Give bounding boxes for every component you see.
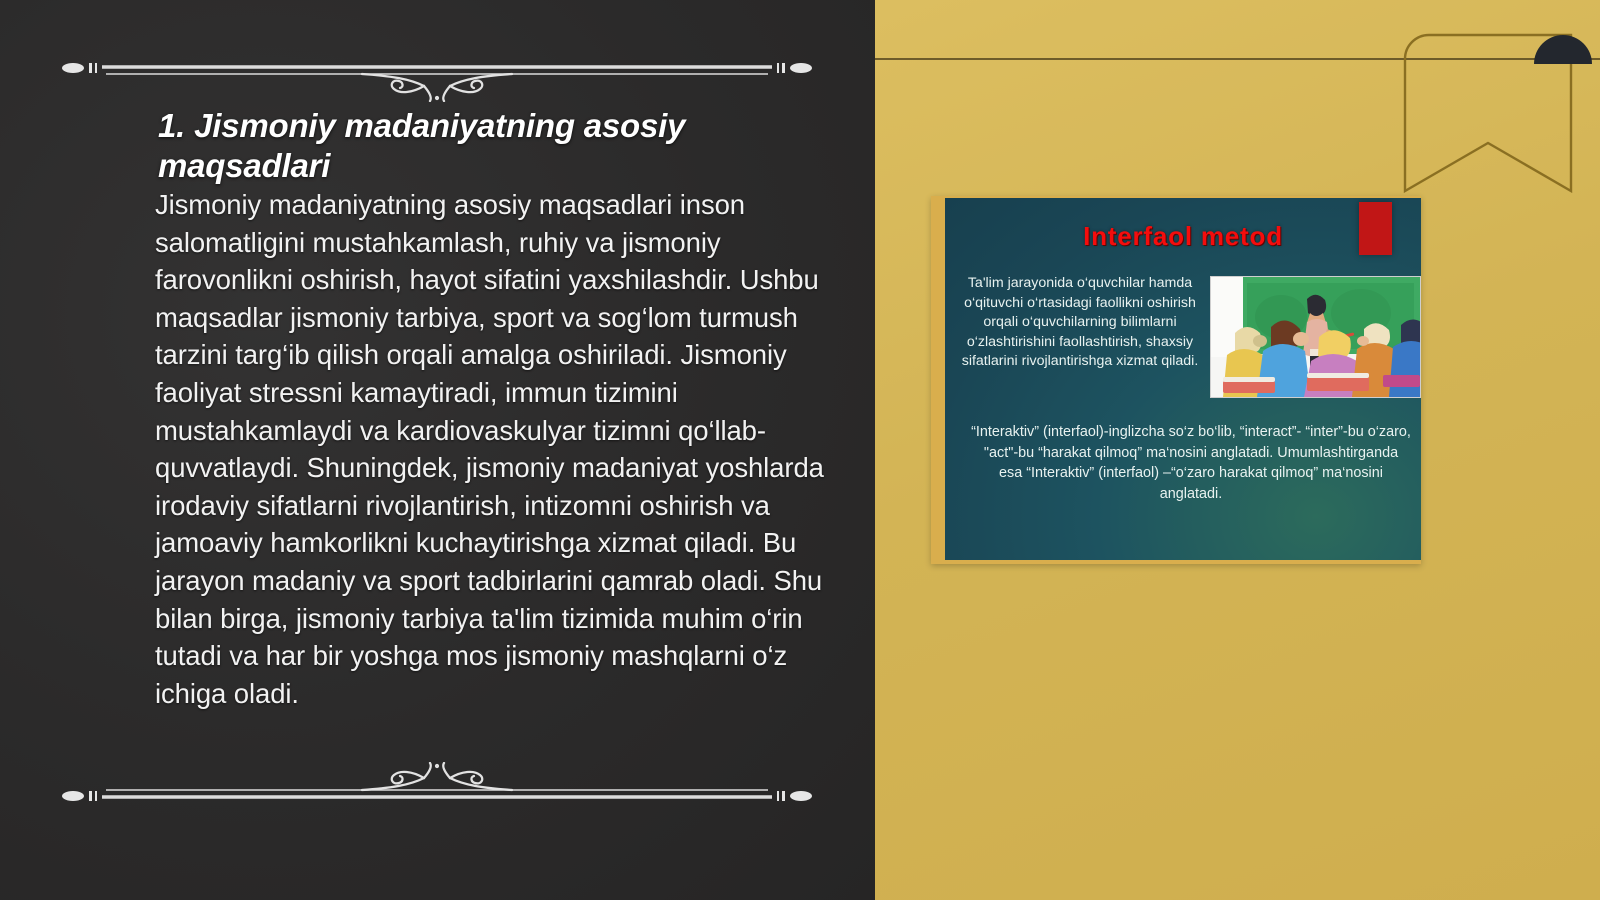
embedded-slide-image: Interfaol metod Ta'lim jarayonida o‘quvc…: [931, 196, 1421, 564]
slide-title: 1. Jismoniy madaniyatning asosiy maqsadl…: [158, 106, 798, 187]
embedded-slide-board: Interfaol metod Ta'lim jarayonida o‘quvc…: [945, 198, 1421, 560]
slide-body-text: Jismoniy madaniyatning asosiy maqsadlari…: [155, 186, 835, 712]
embedded-slide-paragraph-1: Ta'lim jarayonida o‘quvchilar hamda o‘qi…: [951, 274, 1209, 372]
classroom-illustration-icon: [1210, 276, 1421, 398]
presentation-slide: 1. Jismoniy madaniyatning asosiy maqsadl…: [0, 0, 1600, 900]
embedded-slide-paragraph-2: “Interaktiv” (interfaol)-inglizcha so‘z …: [971, 422, 1411, 504]
embedded-slide-title: Interfaol metod: [945, 221, 1421, 252]
